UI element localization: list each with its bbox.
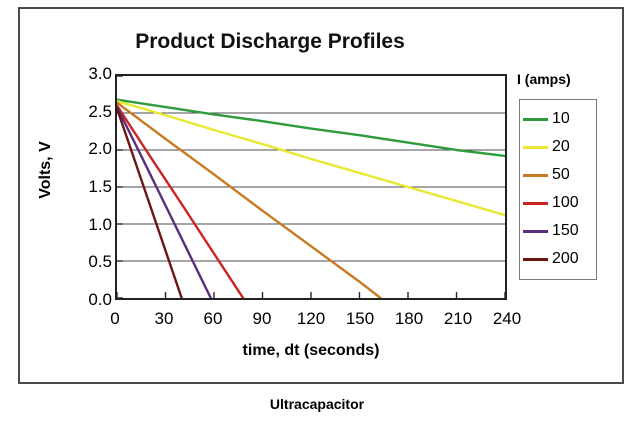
legend-item[interactable]: 50 <box>520 161 596 189</box>
legend-item[interactable]: 100 <box>520 189 596 217</box>
series-line-200 <box>117 109 182 298</box>
legend-color-swatch <box>523 230 548 233</box>
legend-box: 102050100150200 <box>519 99 597 280</box>
chart-title: Product Discharge Profiles <box>20 30 520 54</box>
y-axis-tick-labels: 0.00.51.01.52.02.53.0 <box>60 64 112 310</box>
series-line-100 <box>117 106 243 298</box>
y-tick-label: 0.0 <box>60 290 112 310</box>
legend-color-swatch <box>523 174 548 177</box>
y-tick-label: 1.0 <box>60 215 112 235</box>
legend-color-swatch <box>523 202 548 205</box>
legend-label: 150 <box>552 223 579 239</box>
x-tick-label: 60 <box>185 309 241 329</box>
x-tick-label: 180 <box>381 309 437 329</box>
legend-item[interactable]: 20 <box>520 133 596 161</box>
y-tick-label: 2.0 <box>60 139 112 159</box>
plot-svg <box>117 76 505 298</box>
legend-color-swatch <box>523 146 548 149</box>
legend-label: 20 <box>552 139 570 155</box>
y-tick-label: 1.5 <box>60 177 112 197</box>
x-axis-title: time, dt (seconds) <box>115 342 507 360</box>
legend-item[interactable]: 10 <box>520 105 596 133</box>
legend-title: I (amps) <box>517 71 617 87</box>
y-tick-label: 3.0 <box>60 64 112 84</box>
x-tick-label: 90 <box>234 309 290 329</box>
x-tick-label: 210 <box>430 309 486 329</box>
x-tick-label: 120 <box>283 309 339 329</box>
plot-area <box>115 74 507 300</box>
legend-label: 200 <box>552 251 579 267</box>
y-tick-label: 2.5 <box>60 102 112 122</box>
x-tick-label: 240 <box>479 309 535 329</box>
y-axis-title: Volts, V <box>37 120 55 220</box>
y-tick-label: 0.5 <box>60 252 112 272</box>
legend-item[interactable]: 150 <box>520 217 596 245</box>
legend-label: 10 <box>552 111 570 127</box>
legend-label: 100 <box>552 195 579 211</box>
chart-frame: Product Discharge Profiles Volts, V 0.00… <box>18 7 624 384</box>
legend-color-swatch <box>523 118 548 121</box>
legend-label: 50 <box>552 167 570 183</box>
x-axis-tick-labels: 0306090120150180210240 <box>115 309 507 333</box>
figure-caption: Ultracapacitor <box>0 396 634 412</box>
series-line-150 <box>117 107 211 298</box>
x-tick-label: 0 <box>87 309 143 329</box>
x-tick-label: 30 <box>136 309 192 329</box>
legend-color-swatch <box>523 258 548 261</box>
chart-figure: Product Discharge Profiles Volts, V 0.00… <box>0 0 634 424</box>
x-tick-label: 150 <box>332 309 388 329</box>
legend-item[interactable]: 200 <box>520 245 596 273</box>
series-lines <box>117 100 505 298</box>
series-line-20 <box>117 101 505 215</box>
